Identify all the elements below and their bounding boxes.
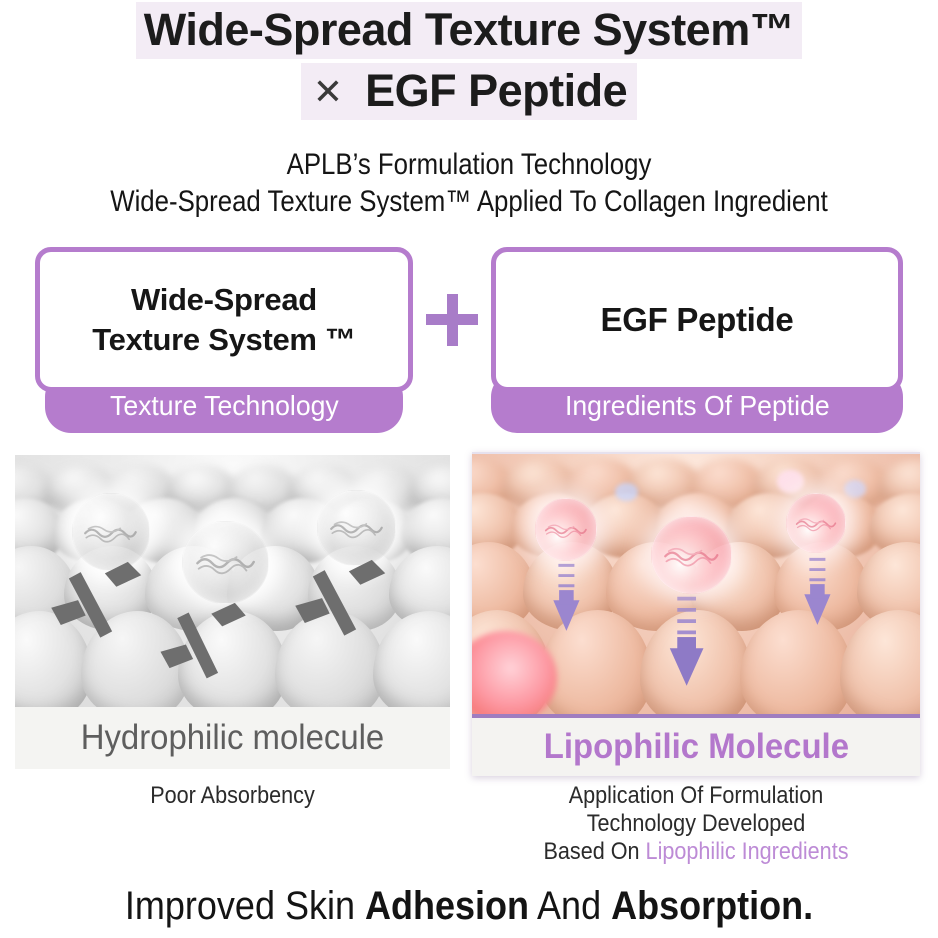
subtitle-line-1: APLB’s Formulation Technology	[66, 147, 873, 182]
molecule-bubble-center	[182, 521, 269, 604]
molecule-bubble-right	[317, 490, 395, 566]
comparison-panels: Hydrophilic molecule	[0, 452, 938, 792]
panel-hydrophilic-image	[15, 455, 450, 707]
subtitle-line-2: Wide-Spread Texture System™ Applied To C…	[66, 184, 873, 219]
absorb-arrow-center-icon	[662, 594, 711, 688]
footer-part-1: Improved Skin	[125, 884, 365, 928]
molecule-squiggle-icon	[795, 514, 837, 532]
plus-icon-vertical-bar	[447, 294, 458, 346]
absorb-arrow-right-icon	[795, 555, 840, 628]
molecule-squiggle-icon	[83, 520, 138, 544]
footer-headline: Improved Skin Adhesion And Absorption.	[47, 884, 891, 929]
molecule-bubble-left	[535, 498, 598, 560]
panel-lipophilic-subcaption-prefix: Based On	[543, 838, 645, 865]
card-texture-system-title-line-1: Wide-Spread	[92, 280, 355, 319]
molecule-squiggle-icon	[544, 520, 588, 539]
panel-lipophilic-subcaption-highlight: Lipophilic Ingredients	[646, 838, 849, 865]
panel-hydrophilic-caption-text: Hydrophilic molecule	[81, 718, 385, 758]
panel-lipophilic-subcaption-line-2: Technology Developed	[494, 810, 897, 838]
footer-part-2: And	[529, 884, 611, 928]
molecule-squiggle-icon	[329, 516, 384, 540]
footer-bold-absorption: Absorption.	[611, 884, 813, 928]
repel-arrow-right-icon	[289, 556, 393, 652]
title-line-2-group: ✕EGF Peptide	[301, 63, 637, 120]
card-egf-peptide-tab-label: Ingredients Of Peptide	[565, 390, 830, 422]
card-egf-peptide: Ingredients Of Peptide EGF Peptide	[491, 247, 903, 433]
panel-lipophilic-subcaption: Application Of Formulation Technology De…	[494, 782, 897, 865]
repel-arrow-center-icon	[154, 601, 254, 692]
molecule-squiggle-icon	[663, 543, 720, 567]
panel-hydrophilic-subcaption: Poor Absorbency	[37, 782, 429, 810]
formula-card-row: Texture Technology Wide-Spread Texture S…	[0, 247, 938, 433]
light-speck	[777, 470, 804, 493]
panel-lipophilic-caption-text: Lipophilic Molecule	[543, 727, 848, 767]
skin-surface-pink	[472, 454, 920, 714]
infographic-page: Wide-Spread Texture System™ ✕EGF Peptide…	[0, 0, 938, 938]
panel-lipophilic-subcaption-line-3: Based On Lipophilic Ingredients	[494, 838, 897, 866]
title-block: Wide-Spread Texture System™ ✕EGF Peptide…	[0, 0, 938, 220]
panel-lipophilic-caption: Lipophilic Molecule	[472, 714, 920, 776]
panel-lipophilic-image	[472, 452, 920, 714]
title-line-2: ✕EGF Peptide	[0, 63, 938, 120]
footer-bold-adhesion: Adhesion	[365, 884, 529, 928]
molecule-squiggle-icon	[195, 549, 256, 575]
panel-hydrophilic-caption: Hydrophilic molecule	[15, 707, 450, 769]
plus-icon	[413, 247, 491, 392]
card-texture-system: Texture Technology Wide-Spread Texture S…	[35, 247, 413, 433]
card-egf-peptide-title: EGF Peptide	[601, 299, 794, 341]
title-line-1-text: Wide-Spread Texture System™	[136, 2, 802, 59]
card-texture-system-title: Wide-Spread Texture System ™	[92, 280, 355, 358]
cross-icon: ✕	[313, 72, 343, 113]
repel-arrow-left-icon	[45, 558, 149, 654]
title-line-1: Wide-Spread Texture System™	[0, 2, 938, 59]
light-speck	[615, 483, 637, 501]
molecule-bubble-right	[786, 493, 846, 553]
panel-lipophilic-subcaption-line-1: Application Of Formulation	[494, 782, 897, 810]
skin-surface-gray	[15, 455, 450, 707]
panel-hydrophilic: Hydrophilic molecule	[15, 455, 450, 769]
title-line-2-text: EGF Peptide	[365, 65, 627, 116]
panel-lipophilic: Lipophilic Molecule	[472, 452, 920, 776]
card-texture-system-box: Wide-Spread Texture System ™	[35, 247, 413, 392]
card-texture-system-tab-label: Texture Technology	[110, 390, 339, 422]
panel-hydrophilic-subcaption-line: Poor Absorbency	[37, 782, 429, 810]
card-texture-system-title-line-2: Texture System ™	[92, 320, 355, 359]
molecule-bubble-center	[651, 516, 732, 594]
absorb-arrow-left-icon	[544, 561, 589, 634]
card-egf-peptide-box: EGF Peptide	[491, 247, 903, 392]
